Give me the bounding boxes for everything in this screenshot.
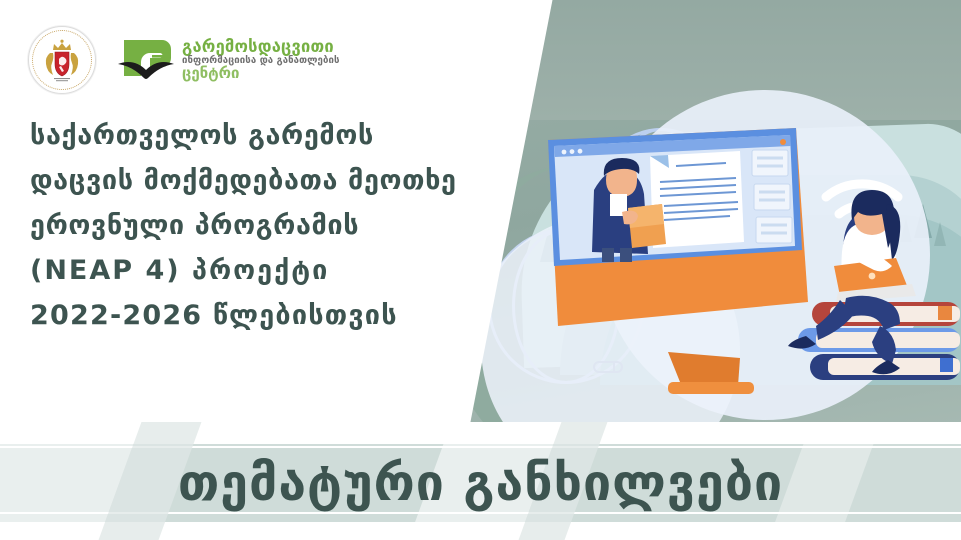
headline-line-5: 2022-2026 წლებისთვის	[30, 302, 450, 329]
window-dot-icon	[578, 149, 583, 154]
open-book-logo-icon	[118, 34, 174, 86]
eiec-line-1: გარემოსდაცვითი	[182, 38, 340, 55]
seal-inner	[29, 27, 95, 93]
headline-line-4: (NEAP 4) პროექტი	[30, 257, 450, 284]
headline-line-1: საქართველოს გარემოს	[30, 122, 450, 149]
bottom-banner: თემატური განხილვები	[0, 422, 961, 540]
logo-row: გარემოსდაცვითი ინფორმაციისა და განათლები…	[28, 26, 340, 94]
record-dot-icon	[780, 139, 786, 145]
eiec-logo: გარემოსდაცვითი ინფორმაციისა და განათლები…	[118, 34, 340, 86]
eiec-line-3: ცენტრი	[182, 66, 340, 82]
window-dot-icon	[562, 150, 567, 155]
laptop-logo-icon	[869, 273, 876, 280]
bookmark-icon	[940, 358, 953, 372]
headline-block: საქართველოს გარემოს დაცვის მოქმედებათა მ…	[30, 122, 450, 347]
ministry-seal	[28, 26, 96, 94]
window-dot-icon	[570, 149, 575, 154]
online-learning-illustration	[540, 120, 961, 420]
sidebar-cards	[752, 150, 792, 243]
bookmark-icon	[938, 306, 952, 320]
headline-line-2: დაცვის მოქმედებათა მეოთხე	[30, 167, 450, 194]
presentation-slide: გარემოსდაცვითი ინფორმაციისა და განათლები…	[0, 0, 961, 540]
eiec-text-block: გარემოსდაცვითი ინფორმაციისა და განათლები…	[182, 38, 340, 82]
banner-title: თემატური განხილვები	[0, 444, 961, 522]
coat-of-arms-icon	[39, 37, 85, 83]
headline-line-3: ეროვნული პროგრამის	[30, 212, 450, 239]
